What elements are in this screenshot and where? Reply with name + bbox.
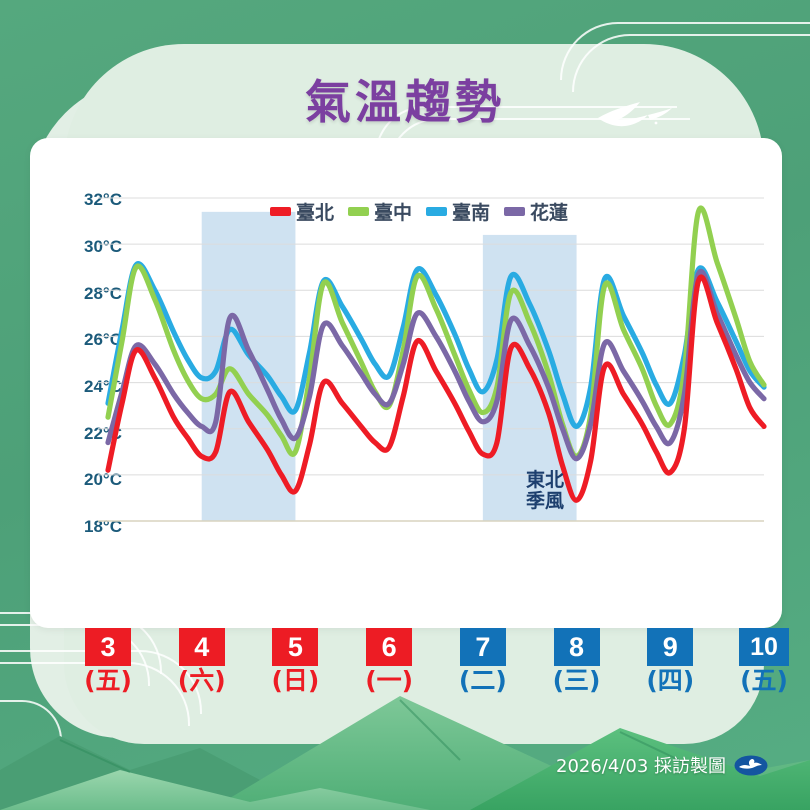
date-badge: 4: [179, 628, 225, 666]
weekday-label: (二): [453, 668, 513, 694]
date-cell: 6(一): [359, 628, 419, 694]
chart-panel: 32°C 30°C 28°C 26°C 24°C 22°C 20°C 18°C …: [30, 138, 782, 628]
legend-label-hualien: 花蓮: [530, 198, 568, 225]
date-badge: 5: [272, 628, 318, 666]
weekday-label: (五): [734, 668, 794, 694]
legend-swatch-taichung: [348, 207, 369, 216]
annotation-line-2: 季風: [510, 491, 580, 512]
chart-legend: 臺北 臺中 臺南 花蓮: [270, 198, 568, 225]
infographic-root: 氣溫趨勢 32°C 30°C 28°C 26°C 24°C 22°C 20°C …: [0, 0, 810, 810]
footer-credit: 2026/4/03 採訪製圖: [556, 752, 726, 778]
legend-swatch-taipei: [270, 207, 291, 216]
date-cell: 8(三): [547, 628, 607, 694]
weekday-label: (五): [78, 668, 138, 694]
date-cell: 3(五): [78, 628, 138, 694]
legend-item-hualien: 花蓮: [504, 198, 568, 225]
date-badge: 6: [366, 628, 412, 666]
legend-item-taichung: 臺中: [348, 198, 412, 225]
date-badge: 9: [647, 628, 693, 666]
weekday-label: (日): [265, 668, 325, 694]
weekday-label: (六): [172, 668, 232, 694]
footer: 2026/4/03 採訪製圖: [556, 752, 768, 778]
date-badge: 7: [460, 628, 506, 666]
weekday-label: (一): [359, 668, 419, 694]
date-cell: 9(四): [640, 628, 700, 694]
legend-item-taipei: 臺北: [270, 198, 334, 225]
legend-label-taipei: 臺北: [296, 198, 334, 225]
legend-swatch-tainan: [426, 207, 447, 216]
annotation-line-1: 東北: [510, 470, 580, 491]
date-cell: 7(二): [453, 628, 513, 694]
legend-item-tainan: 臺南: [426, 198, 490, 225]
date-cell: 10(五): [734, 628, 794, 694]
legend-swatch-hualien: [504, 207, 525, 216]
legend-label-taichung: 臺中: [374, 198, 412, 225]
date-badge: 8: [554, 628, 600, 666]
weekday-label: (三): [547, 668, 607, 694]
date-badge: 10: [739, 628, 789, 666]
date-axis: 3(五)4(六)5(日)6(一)7(二)8(三)9(四)10(五): [30, 628, 782, 708]
date-cell: 5(日): [265, 628, 325, 694]
page-title: 氣溫趨勢: [0, 66, 810, 132]
date-cell: 4(六): [172, 628, 232, 694]
weekday-label: (四): [640, 668, 700, 694]
annotation-northeast-monsoon: 東北 季風: [510, 470, 580, 511]
date-badge: 3: [85, 628, 131, 666]
cwa-bird-logo-icon: [734, 755, 768, 776]
legend-label-tainan: 臺南: [452, 198, 490, 225]
